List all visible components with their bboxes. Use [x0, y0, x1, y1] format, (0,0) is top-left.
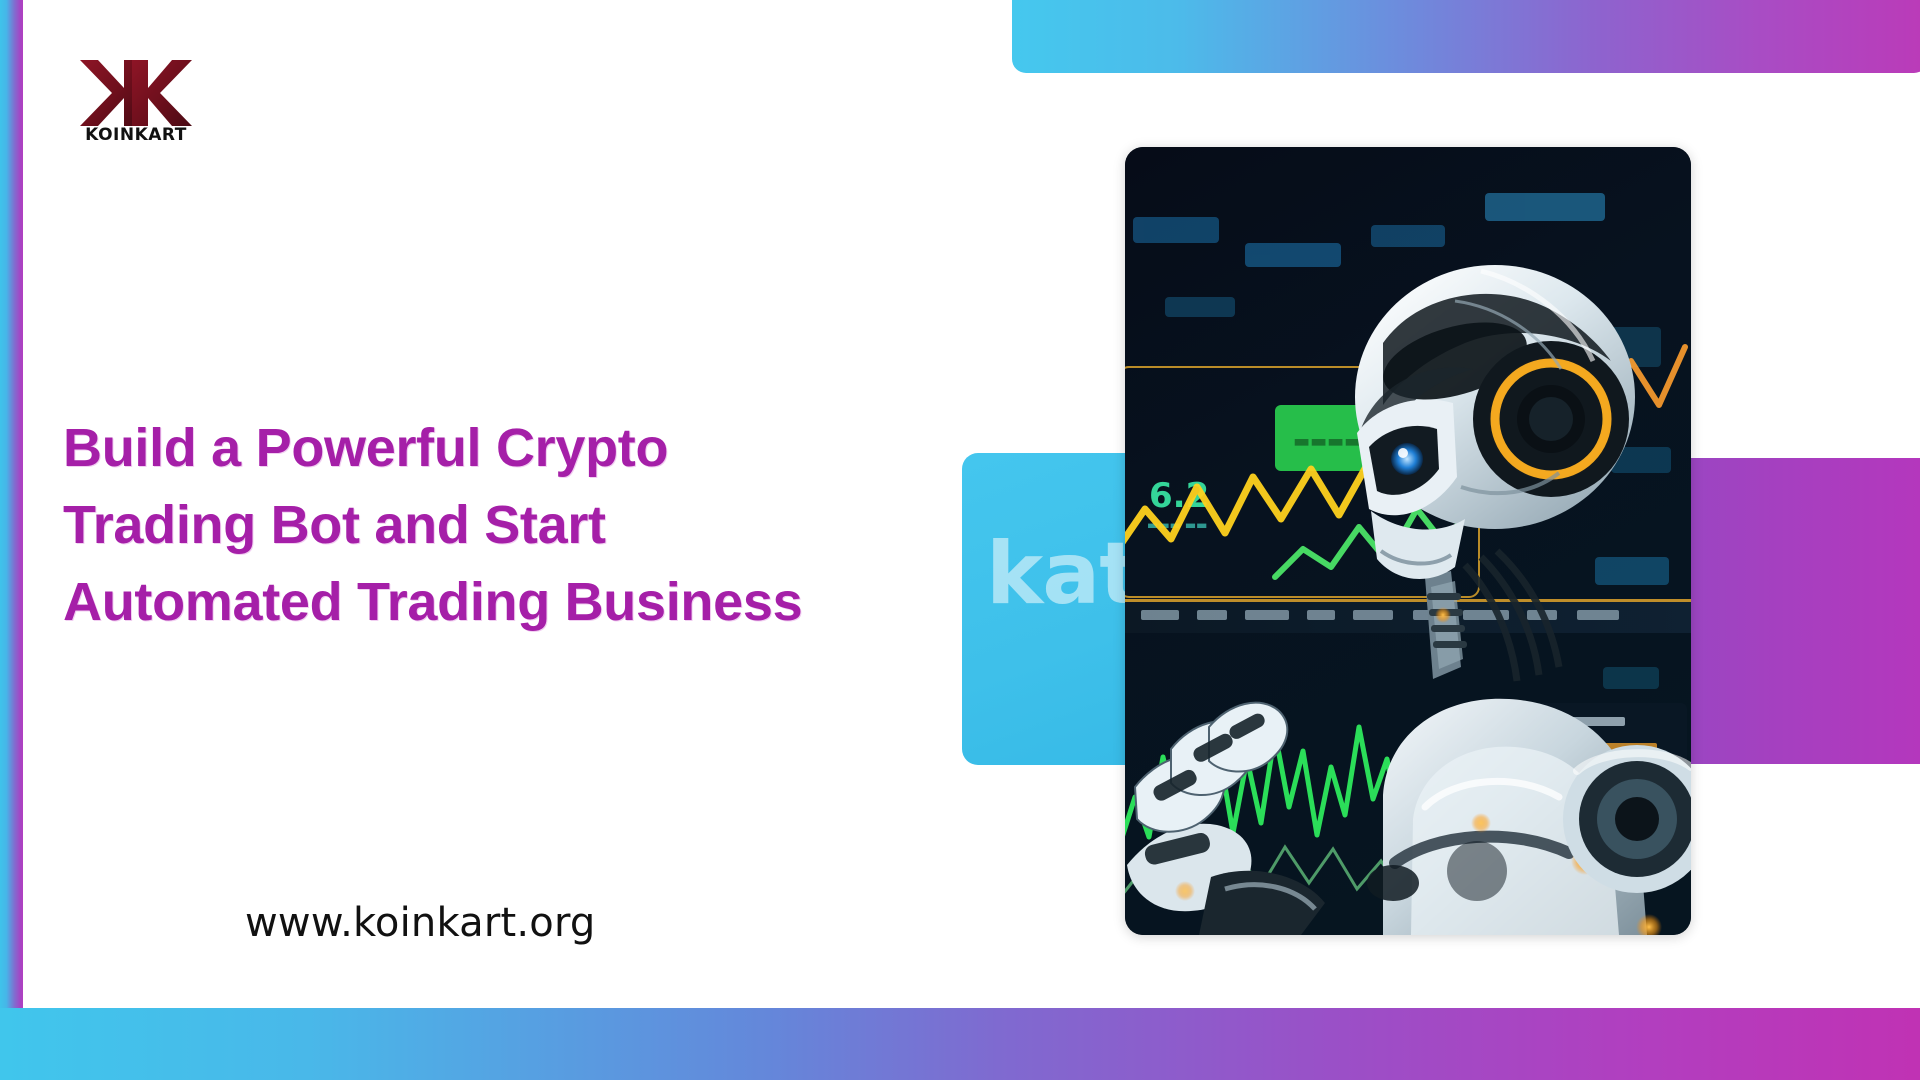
koinkart-double-k-logo-icon: KOINKART [72, 48, 200, 143]
website-url[interactable]: www.koinkart.org [245, 900, 596, 946]
headline-line-3: Automated Trading Business [63, 564, 1063, 641]
hero-image-robot-trading: ▬▬▬▬ 6.2 ▬▬▬ ▬▬ [1125, 147, 1691, 935]
bottom-gradient-bar [0, 1008, 1920, 1080]
headline-line-1: Build a Powerful Crypto [63, 410, 1063, 487]
svg-text:▬▬▬▬: ▬▬▬▬ [1293, 431, 1361, 452]
top-gradient-bar [1012, 0, 1920, 73]
koinkart-logo[interactable]: KOINKART [72, 48, 200, 143]
right-purple-block [1685, 458, 1920, 764]
slide-canvas: kato KOINKART Build a Powerful Crypto Tr… [0, 0, 1920, 1080]
page-title: Build a Powerful Crypto Trading Bot and … [63, 410, 1063, 642]
left-gradient-strip [0, 0, 23, 1010]
headline-line-2: Trading Bot and Start [63, 487, 1063, 564]
svg-text:KOINKART: KOINKART [85, 125, 187, 143]
